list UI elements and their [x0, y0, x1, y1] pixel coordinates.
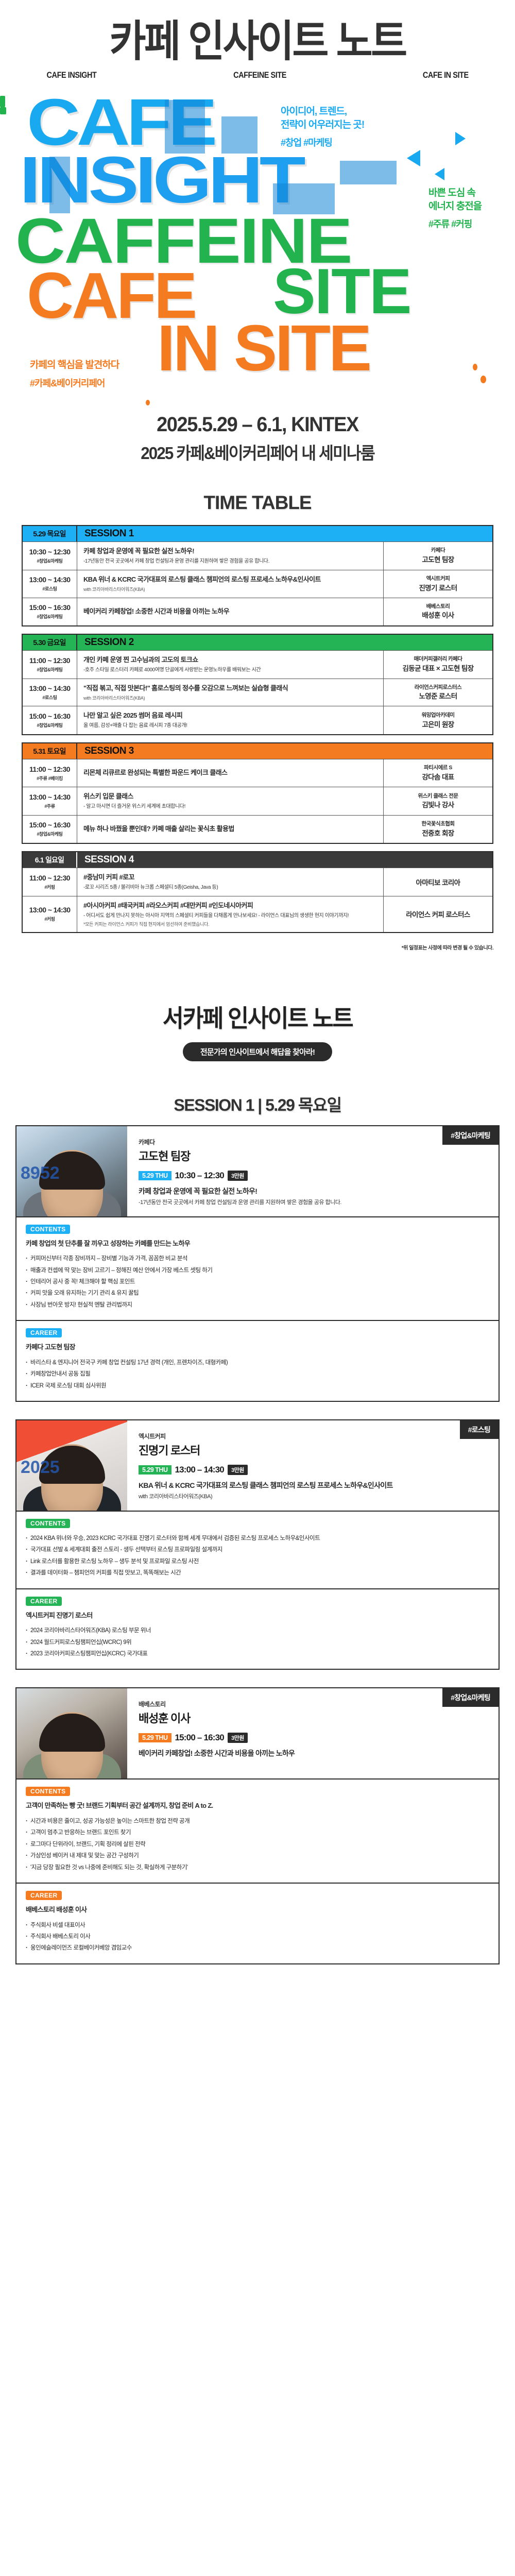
list-item: 주식회사 비셀 대표이사 — [26, 1920, 489, 1931]
timetable-session-header: 5.29 목요일SESSION 1 — [23, 526, 492, 541]
timetable-speaker-cell: 라이언스 커피 로스터스 — [383, 896, 492, 932]
hero-deco-block — [340, 161, 397, 184]
timetable-row: 15:00 ~ 16:30#창업&마케팅베이커리 카페창업! 소중한 시간과 비… — [23, 598, 492, 625]
timetable-session-block: 5.29 목요일SESSION 110:30 ~ 12:30#창업&마케팅카페 … — [22, 525, 493, 626]
timetable-time-cell: 13:00 ~ 14:30#로스팅 — [23, 570, 77, 598]
timetable-row: 13:00 ~ 14:30#로스팅KBA 위너 & KCRC 국가대표의 로스팅… — [23, 570, 492, 598]
timetable-session-block: 5.30 금요일SESSION 211:00 ~ 12:30#창업&마케팅개인 … — [22, 634, 493, 736]
speaker-info: #로스팅엑시트커피진명기 로스터5.29 THU13:00 – 14:303만원… — [127, 1420, 499, 1511]
timetable-desc-cell: 위스키 입문 클래스- 알고 마시면 더 즐거운 위스키 세계에 초대합니다! — [77, 787, 383, 815]
hero-note-orange: 카페의 핵심을 발견하다 #카페&베이커리페어 — [30, 359, 119, 389]
timetable-desc-main: 카페 창업과 운영에 꼭 필요한 실전 노하우! — [83, 547, 377, 556]
timetable-tag: #주류 — [44, 803, 55, 809]
list-item: 2024 월드커피로스팅챔피언십(WCRC) 9위 — [26, 1637, 489, 1648]
list-item: Link 로스터를 활용한 로스팅 노하우 – 생두 분석 및 프로파일 로스팅… — [26, 1556, 489, 1567]
timetable-speaker-org: 워밍업아카데미 — [421, 711, 454, 719]
hero-note-green-tags: #주류 #커핑 — [428, 217, 482, 230]
speaker-photo — [16, 1688, 127, 1778]
timetable-time-cell: 15:00 ~ 16:30#창업&마케팅 — [23, 706, 77, 734]
timetable-heading: TIME TABLE — [0, 492, 515, 514]
timetable-tag: #창업&마케팅 — [37, 613, 62, 620]
timetable-desc-main: 개인 카페 운영 찐 고수님과의 고도의 토크쇼 — [83, 655, 377, 665]
timetable-time: 13:00 ~ 14:30 — [29, 906, 71, 914]
career-list: 바리스타 & 엔지니어 전국구 카페 창업 컨설팅 17년 경력 (개인, 프렌… — [26, 1357, 489, 1392]
hashtag-badge[interactable]: #로스팅 — [460, 1420, 499, 1439]
timetable-speaker-name: 고도현 팀장 — [422, 555, 454, 565]
timetable-row: 13:00 ~ 14:30#로스팅"직접 볶고, 직접 맛본다!" 홈로스팅의 … — [23, 679, 492, 706]
timetable-time: 13:00 ~ 14:30 — [29, 684, 71, 692]
contents-badge: CONTENTS — [26, 1519, 70, 1528]
day-badge: 5.29 THU — [139, 1465, 171, 1475]
hero-word-site: SITE — [273, 266, 411, 318]
timetable-session-title: SESSION 3 — [77, 743, 492, 759]
timetable-time: 13:00 ~ 14:30 — [29, 793, 71, 801]
timetable-session-title: SESSION 4 — [77, 852, 492, 868]
speaker-org: 카페다 — [139, 1138, 489, 1146]
timetable-desc-cell: 리몬체 리큐르로 완성되는 특별한 파운드 케이크 클래스 — [77, 759, 383, 787]
timetable-time: 15:00 ~ 16:30 — [29, 821, 71, 829]
timetable-desc-cell: 나만 알고 싶은 2025 썸머 음료 레시피올 여름, 감성+매출 다 잡는 … — [77, 706, 383, 734]
timetable-row: 13:00 ~ 14:30#주류위스키 입문 클래스- 알고 마시면 더 즐거운… — [23, 787, 492, 815]
career-section: CAREER카페다 고도현 팀장바리스타 & 엔지니어 전국구 카페 창업 컨설… — [16, 1320, 499, 1401]
timetable-speaker-cell: 워밍업아카데미고은미 원장 — [383, 706, 492, 734]
timetable-session-date: 5.29 목요일 — [23, 526, 77, 541]
career-lead: 엑시트커피 진명기 로스터 — [26, 1611, 489, 1621]
list-item: ICER 국제 로스팅 대회 심사위원 — [26, 1380, 489, 1392]
timetable-row: 15:00 ~ 16:30#창업&마케팅나만 알고 싶은 2025 썸머 음료 … — [23, 706, 492, 734]
list-item: 커피 맛을 오래 유지하는 기기 관리 & 유지 꿀팁 — [26, 1287, 489, 1299]
talk-title: 베이커리 카페창업! 소중한 시간과 비용을 아끼는 노하우 — [139, 1748, 489, 1759]
list-item: 커피머신부터 각종 장비까지 – 장비별 기능과 가격, 꼼꼼한 비교 분석 — [26, 1253, 489, 1264]
list-item: 국가대표 선발 & 세계대회 출전 스토리 - 생두 선택부터 로스팅 프로파일… — [26, 1544, 489, 1555]
list-item: 2024 코리아바리스타어워즈(KBA) 로스팅 부문 위너 — [26, 1625, 489, 1636]
session-time-line: 5.29 THU10:30 – 12:303만원 — [139, 1171, 489, 1181]
timetable-desc-note: *모든 커피는 라이언스 커피가 직접 현지에서 엄선하여 준비했습니다. — [83, 921, 377, 927]
timetable-row: 11:00 ~ 12:30#창업&마케팅개인 카페 운영 찐 고수님과의 고도의… — [23, 650, 492, 679]
timetable-tag: #창업&마케팅 — [37, 557, 62, 564]
contents-list: 2024 KBA 위너와 우승, 2023 KCRC 국가대표 진명기 로스터와… — [26, 1533, 489, 1579]
price-badge: 3만원 — [228, 1733, 248, 1743]
list-item: '지금 당장 필요한 것 vs 나중에 준비해도 되는 것, 확실하게 구분하기… — [26, 1862, 489, 1873]
timetable-speaker-org: 위스키 클래스 전문 — [418, 792, 458, 800]
speaker-card-top: 2025#로스팅엑시트커피진명기 로스터5.29 THU13:00 – 14:3… — [16, 1420, 499, 1511]
timetable-desc-cell: "직접 볶고, 직접 맛본다!" 홈로스팅의 정수를 오감으로 느껴보는 실습형… — [77, 679, 383, 706]
triangle-icon — [455, 132, 466, 145]
timetable-session-date: 5.31 토요일 — [23, 743, 77, 759]
day-badge: 5.29 THU — [139, 1171, 171, 1180]
timetable-desc-note: with 코리아바리스타어워즈(KBA) — [83, 694, 377, 701]
timetable-desc-cell: 베이커리 카페창업! 소중한 시간과 비용을 아끼는 노하우 — [77, 598, 383, 625]
contents-section: CONTENTS고객이 만족하는 빵 굿! 브랜드 기획부터 공간 설계까지, … — [16, 1778, 499, 1883]
timetable-desc-main: #아시아커피 #태국커피 #라오스커피 #대만커피 #인도네시아커피 — [83, 901, 377, 911]
timetable-desc-main: 위스키 입문 클래스 — [83, 792, 377, 802]
hero-note-blue-line1: 아이디어, 트렌드, — [281, 105, 364, 118]
section2-pill: 전문가의 인사이트에서 해답을 찾아라! — [183, 1042, 332, 1061]
photo-overlay-text: 8952 — [21, 1163, 60, 1183]
timetable-footnote: *위 일정표는 사정에 따라 변경 될 수 있습니다. — [0, 940, 515, 951]
career-badge: CAREER — [26, 1328, 62, 1337]
timetable-session-block: 5.31 토요일SESSION 311:00 ~ 12:30#주류 #베이킹리몬… — [22, 742, 493, 844]
timetable-speaker-cell: 파티시에르 S강다솜 대표 — [383, 759, 492, 787]
speaker-card[interactable]: #창업&마케팅배베스토리배성훈 이사5.29 THU15:00 – 16:303… — [15, 1687, 500, 1964]
subtitle-center: CAFFEINE SITE — [233, 70, 286, 80]
hero-note-green-line1: 바쁜 도심 속 — [428, 187, 482, 200]
timetable-time-cell: 15:00 ~ 16:30#창업&마케팅 — [23, 598, 77, 625]
subtitle-right: CAFE IN SITE — [423, 70, 469, 80]
header-subtitles: CAFE INSIGHT CAFFEINE SITE CAFE IN SITE — [10, 63, 505, 80]
hero-note-green-line2: 에너지 충전을 — [428, 200, 482, 213]
timetable-time-cell: 11:00 ~ 12:30#주류 #베이킹 — [23, 759, 77, 787]
speaker-info: #창업&마케팅카페다고도현 팀장5.29 THU10:30 – 12:303만원… — [127, 1126, 499, 1216]
photo-hair-shape — [39, 1714, 105, 1752]
timetable-speaker-name: 배성훈 이사 — [422, 611, 454, 620]
list-item: 바리스타 & 엔지니어 전국구 카페 창업 컨설팅 17년 경력 (개인, 프렌… — [26, 1357, 489, 1368]
timetable-desc-cell: 메뉴 하나 바꿨을 뿐인데? 카페 매출 살리는 꽃식초 활용법 — [77, 816, 383, 843]
list-item: 주식회사 배베스토리 이사 — [26, 1931, 489, 1942]
timetable-time: 11:00 ~ 12:30 — [29, 656, 70, 665]
photo-overlay-text: 2025 — [21, 1458, 60, 1478]
timetable-speaker-cell: 아마티보 코리아 — [383, 868, 492, 896]
timetable-desc-main: KBA 위너 & KCRC 국가대표의 로스팅 클래스 챔피언의 로스팅 프로세… — [83, 575, 377, 585]
timetable-row: 11:00 ~ 12:30#커핑#중남미 커피 #로꼬-로꼬 시리즈 5종 / … — [23, 868, 492, 896]
list-item: 매출과 컨셉에 딱 맞는 장비 고르기 – 정해진 예산 안에서 가장 베스트 … — [26, 1265, 489, 1276]
timetable-time: 11:00 ~ 12:30 — [29, 874, 70, 882]
speaker-card-list: 8952#창업&마케팅카페다고도현 팀장5.29 THU10:30 – 12:3… — [0, 1125, 515, 1964]
career-badge: CAREER — [26, 1597, 62, 1606]
timetable-time: 15:00 ~ 16:30 — [29, 712, 71, 720]
career-list: 2024 코리아바리스타어워즈(KBA) 로스팅 부문 위너2024 월드커피로… — [26, 1625, 489, 1659]
hero-deco-dot — [0, 107, 6, 114]
list-item: 시간과 비용은 줄이고, 성공 가능성은 높이는 스마트한 창업 전략 공개 — [26, 1816, 489, 1827]
timetable-speaker-name: 강다솜 대표 — [422, 773, 454, 782]
timetable-speaker-name: 진명기 로스터 — [419, 584, 457, 593]
timetable-tag: #창업&마케팅 — [37, 831, 62, 837]
hero-note-orange-tags: #카페&베이커리페어 — [30, 376, 119, 389]
event-place: 2025 카페&베이커리페어 내 세미나룸 — [13, 439, 502, 464]
speaker-org: 엑시트커피 — [139, 1432, 489, 1440]
contents-list: 커피머신부터 각종 장비까지 – 장비별 기능과 가격, 꼼꼼한 비교 분석매출… — [26, 1253, 489, 1311]
list-item: 카페창업안내서 공동 집필 — [26, 1368, 489, 1380]
speaker-name: 고도현 팀장 — [139, 1147, 489, 1164]
timetable-desc-main: 베이커리 카페창업! 소중한 시간과 비용을 아끼는 노하우 — [83, 607, 377, 617]
timetable-session-header: 6.1 일요일SESSION 4 — [23, 852, 492, 868]
timetable-desc-sub: 올 여름, 감성+매출 다 잡는 음료 레시피 7종 대공개! — [83, 722, 377, 730]
talk-title: KBA 위너 & KCRC 국가대표의 로스팅 클래스 챔피언의 로스팅 프로세… — [139, 1480, 489, 1491]
timetable-desc-sub: - 알고 마시면 더 즐거운 위스키 세계에 초대합니다! — [83, 803, 377, 810]
timetable-desc-note: with 코리아바리스타어워즈(KBA) — [83, 586, 377, 592]
timetable: 5.29 목요일SESSION 110:30 ~ 12:30#창업&마케팅카페 … — [0, 525, 515, 933]
timetable-session-header: 5.30 금요일SESSION 2 — [23, 635, 492, 650]
timetable-row: 11:00 ~ 12:30#주류 #베이킹리몬체 리큐르로 완성되는 특별한 파… — [23, 759, 492, 787]
timetable-session-title: SESSION 1 — [77, 526, 492, 541]
cafe-insight-poster: 카페 인사이트 노트 CAFE INSIGHT CAFFEINE SITE CA… — [0, 0, 515, 1982]
timetable-session-date: 5.30 금요일 — [23, 635, 77, 650]
hero-note-blue: 아이디어, 트렌드, 전략이 어우러지는 곳! #창업 #마케팅 — [281, 105, 364, 149]
timetable-desc-sub: -17년동안 전국 곳곳에서 카페 창업 컨설팅과 운영 관리를 지원하며 쌓은… — [83, 557, 377, 565]
timetable-time-cell: 11:00 ~ 12:30#창업&마케팅 — [23, 651, 77, 679]
session-time-line: 5.29 THU15:00 – 16:303만원 — [139, 1733, 489, 1743]
timetable-tag: #창업&마케팅 — [37, 666, 62, 673]
speaker-info: #창업&마케팅배베스토리배성훈 이사5.29 THU15:00 – 16:303… — [127, 1688, 499, 1778]
contents-badge: CONTENTS — [26, 1225, 70, 1234]
career-badge: CAREER — [26, 1891, 62, 1900]
timetable-time-cell: 13:00 ~ 14:30#주류 — [23, 787, 77, 815]
list-item: 2024 KBA 위너와 우승, 2023 KCRC 국가대표 진명기 로스터와… — [26, 1533, 489, 1544]
timetable-tag: #주류 #베이킹 — [37, 775, 63, 782]
timetable-time: 10:30 ~ 12:30 — [29, 548, 71, 556]
hero-note-blue-line2: 전략이 어우러지는 곳! — [281, 118, 364, 132]
hero-deco-block — [49, 157, 70, 213]
talk-subtitle: -17년동안 전국 곳곳에서 카페 창업 컨설팅과 운영 관리를 지원하며 쌓은… — [139, 1198, 489, 1208]
speaker-card[interactable]: 8952#창업&마케팅카페다고도현 팀장5.29 THU10:30 – 12:3… — [15, 1125, 500, 1402]
session-time: 10:30 – 12:30 — [175, 1171, 224, 1181]
timetable-desc-sub: -로꼬 시리즈 5종 / 볼리비아 뉴크롭 스페셜티 5종(Geisha, Ja… — [83, 884, 377, 891]
career-list: 주식회사 비셀 대표이사주식회사 배베스토리 이사웅인에슬레이먼즈 로컬베이커베… — [26, 1920, 489, 1954]
event-date-block: 2025.5.29 – 6.1, KINTEX 2025 카페&베이커리페어 내… — [0, 405, 515, 492]
timetable-speaker-org: 라이언스커피로스터스 — [415, 684, 462, 691]
timetable-time-cell: 10:30 ~ 12:30#창업&마케팅 — [23, 542, 77, 570]
price-badge: 3만원 — [228, 1465, 248, 1475]
timetable-row: 10:30 ~ 12:30#창업&마케팅카페 창업과 운영에 꼭 필요한 실전 … — [23, 541, 492, 570]
timetable-speaker-cell: 매더커피갤러리 카페다김동균 대표 × 고도현 팀장 — [383, 651, 492, 679]
timetable-speaker-name: 전중호 회장 — [422, 829, 454, 838]
speaker-org: 배베스토리 — [139, 1700, 489, 1708]
speaker-card[interactable]: 2025#로스팅엑시트커피진명기 로스터5.29 THU13:00 – 14:3… — [15, 1419, 500, 1670]
section2-header: 서카페 인사이트 노트 전문가의 인사이트에서 해답을 찾아라! — [0, 951, 515, 1061]
career-section: CAREER엑시트커피 진명기 로스터2024 코리아바리스타어워즈(KBA) … — [16, 1588, 499, 1669]
timetable-desc-cell: #중남미 커피 #로꼬-로꼬 시리즈 5종 / 볼리비아 뉴크롭 스페셜티 5종… — [77, 868, 383, 896]
timetable-desc-cell: #아시아커피 #태국커피 #라오스커피 #대만커피 #인도네시아커피- 어디서도… — [77, 896, 383, 932]
list-item: 인테리어 공사 중 꼭! 체크해야 할 핵심 포인트 — [26, 1276, 489, 1287]
timetable-time: 15:00 ~ 16:30 — [29, 603, 71, 612]
career-lead: 배베스토리 배성훈 이사 — [26, 1905, 489, 1915]
timetable-session-date: 6.1 일요일 — [23, 852, 77, 868]
talk-title: 카페 창업과 운영에 꼭 필요한 실전 노하우! — [139, 1186, 489, 1197]
timetable-speaker-cell: 위스키 클래스 전문김빛나 강사 — [383, 787, 492, 815]
timetable-time: 13:00 ~ 14:30 — [29, 575, 71, 584]
timetable-speaker-org: 한국꽃식초협회 — [421, 820, 454, 828]
timetable-speaker-name: 고은미 원장 — [422, 720, 454, 730]
page-title: 카페 인사이트 노트 — [30, 20, 485, 63]
timetable-desc-main: 리몬체 리큐르로 완성되는 특별한 파운드 케이크 클래스 — [83, 768, 377, 778]
speaker-card-top: #창업&마케팅배베스토리배성훈 이사5.29 THU15:00 – 16:303… — [16, 1688, 499, 1778]
price-badge: 3만원 — [228, 1171, 248, 1181]
timetable-desc-sub: - 어디서도 쉽게 만나지 못하는 아시아 지역의 스페셜티 커피들을 다채롭게… — [83, 912, 377, 920]
timetable-tag: #커핑 — [44, 884, 55, 890]
timetable-speaker-cell: 한국꽃식초협회전중호 회장 — [383, 816, 492, 843]
day-badge: 5.29 THU — [139, 1733, 171, 1742]
speaker-card-top: 8952#창업&마케팅카페다고도현 팀장5.29 THU10:30 – 12:3… — [16, 1126, 499, 1216]
timetable-row: 13:00 ~ 14:30#커핑#아시아커피 #태국커피 #라오스커피 #대만커… — [23, 896, 492, 932]
speaker-photo: 8952 — [16, 1126, 127, 1216]
timetable-session-title: SESSION 2 — [77, 635, 492, 650]
timetable-tag: #로스팅 — [42, 585, 57, 592]
talk-subtitle: with 코리아바리스타어워즈(KBA) — [139, 1493, 489, 1502]
list-item: 2023 코리아커피로스팅챔피언십(KCRC) 국가대표 — [26, 1648, 489, 1659]
contents-lead: 고객이 만족하는 빵 굿! 브랜드 기획부터 공간 설계까지, 창업 준비 A … — [26, 1801, 489, 1811]
timetable-speaker-name: 김빛나 강사 — [422, 801, 454, 810]
timetable-desc-cell: KBA 위너 & KCRC 국가대표의 로스팅 클래스 챔피언의 로스팅 프로세… — [77, 570, 383, 598]
timetable-speaker-name: 노영준 로스터 — [419, 692, 457, 701]
session-time-line: 5.29 THU13:00 – 14:303만원 — [139, 1465, 489, 1475]
session-time: 15:00 – 16:30 — [175, 1733, 224, 1743]
timetable-speaker-org: 매더커피갤러리 카페다 — [414, 655, 462, 663]
timetable-row: 15:00 ~ 16:30#창업&마케팅메뉴 하나 바꿨을 뿐인데? 카페 매출… — [23, 815, 492, 843]
contents-section: CONTENTS2024 KBA 위너와 우승, 2023 KCRC 국가대표 … — [16, 1511, 499, 1588]
hero-note-blue-tags: #창업 #마케팅 — [281, 135, 364, 149]
timetable-speaker-name: 라이언스 커피 로스터스 — [406, 909, 470, 919]
timetable-speaker-org: 카페다 — [431, 547, 445, 554]
timetable-desc-main: 나만 알고 싶은 2025 썸머 음료 레시피 — [83, 711, 377, 721]
timetable-time-cell: 11:00 ~ 12:30#커핑 — [23, 868, 77, 896]
list-item: 고객이 멈추고 반응하는 브랜드 포인트 찾기 — [26, 1827, 489, 1838]
section2-title: 서카페 인사이트 노트 — [13, 998, 502, 1034]
event-date-venue: 2025.5.29 – 6.1, KINTEX — [13, 413, 502, 436]
triangle-icon — [407, 150, 420, 166]
timetable-desc-cell: 개인 카페 운영 찐 고수님과의 고도의 토크쇼-호주 스타일 로스터리 카페로… — [77, 651, 383, 679]
timetable-tag: #커핑 — [44, 916, 55, 922]
timetable-time-cell: 13:00 ~ 14:30#로스팅 — [23, 679, 77, 706]
contents-badge: CONTENTS — [26, 1787, 70, 1796]
timetable-desc-main: "직접 볶고, 직접 맛본다!" 홈로스팅의 정수를 오감으로 느껴보는 실습형… — [83, 684, 377, 693]
timetable-speaker-name: 김동균 대표 × 고도현 팀장 — [402, 664, 473, 673]
timetable-speaker-org: 파티시에르 S — [424, 764, 452, 772]
triangle-icon — [435, 168, 444, 180]
hero-note-green: 바쁜 도심 속 에너지 충전을 #주류 #커핑 — [428, 187, 482, 230]
list-item: 가상인성 베이커 내 제대 및 맞는 공간 구성하기 — [26, 1850, 489, 1861]
dot-icon — [146, 400, 150, 405]
hero-note-orange-line1: 카페의 핵심을 발견하다 — [30, 359, 119, 372]
timetable-desc-main: 메뉴 하나 바꿨을 뿐인데? 카페 매출 살리는 꽃식초 활용법 — [83, 824, 377, 834]
contents-list: 시간과 비용은 줄이고, 성공 가능성은 높이는 스마트한 창업 전략 공개고객… — [26, 1816, 489, 1873]
speaker-photo: 2025 — [16, 1420, 127, 1511]
career-section: CAREER배베스토리 배성훈 이사주식회사 비셀 대표이사주식회사 배베스토리… — [16, 1883, 499, 1963]
hashtag-badge[interactable]: #창업&마케팅 — [442, 1126, 499, 1145]
dot-icon — [480, 376, 486, 383]
page-header: 카페 인사이트 노트 CAFE INSIGHT CAFFEINE SITE CA… — [0, 0, 515, 80]
hero-typography: CAFE INSIGHT CAFFEINE SITE CAFE IN SITE … — [0, 96, 515, 405]
timetable-desc-cell: 카페 창업과 운영에 꼭 필요한 실전 노하우!-17년동안 전국 곳곳에서 카… — [77, 542, 383, 570]
speaker-name: 배성훈 이사 — [139, 1709, 489, 1726]
contents-lead: 카페 창업의 첫 단추를 잘 끼우고 성장하는 카페를 만드는 노하우 — [26, 1239, 489, 1249]
subtitle-left: CAFE INSIGHT — [47, 70, 97, 80]
timetable-speaker-cell: 라이언스커피로스터스노영준 로스터 — [383, 679, 492, 706]
list-item: 결과를 데이터화 – 챔피언의 커피를 직접 맛보고, 똑똑해보는 시간 — [26, 1567, 489, 1579]
speaker-name: 진명기 로스터 — [139, 1442, 489, 1458]
timetable-speaker-cell: 카페다고도현 팀장 — [383, 542, 492, 570]
timetable-session-block: 6.1 일요일SESSION 411:00 ~ 12:30#커핑#중남미 커피 … — [22, 851, 493, 933]
hashtag-badge[interactable]: #창업&마케팅 — [442, 1688, 499, 1707]
timetable-time: 11:00 ~ 12:30 — [29, 765, 70, 773]
session-detail-heading: SESSION 1 | 5.29 목요일 — [0, 1061, 515, 1125]
timetable-speaker-org: 엑시트커피 — [426, 575, 450, 583]
career-lead: 카페다 고도현 팀장 — [26, 1342, 489, 1352]
timetable-speaker-cell: 배베스토리배성훈 이사 — [383, 598, 492, 625]
timetable-tag: #창업&마케팅 — [37, 722, 62, 728]
session-time: 13:00 – 14:30 — [175, 1465, 224, 1475]
timetable-speaker-cell: 엑시트커피진명기 로스터 — [383, 570, 492, 598]
timetable-session-header: 5.31 토요일SESSION 3 — [23, 743, 492, 759]
hero-deco-dot — [0, 96, 5, 107]
list-item: 웅인에슬레이먼즈 로컬베이커베앙 겸임교수 — [26, 1942, 489, 1954]
timetable-time-cell: 13:00 ~ 14:30#커핑 — [23, 896, 77, 932]
list-item: 사장님 번아웃 방지! 현실적 멘탈 관리법까지 — [26, 1299, 489, 1311]
timetable-desc-sub: -호주 스타일 로스터리 카페로 4000여명 단골에게 사랑받는 운영노하우를… — [83, 666, 377, 674]
dot-icon — [473, 364, 477, 370]
timetable-speaker-org: 배베스토리 — [426, 603, 450, 611]
hero-word-in-site: IN SITE — [157, 321, 370, 375]
timetable-speaker-name: 아마티보 코리아 — [416, 877, 460, 887]
timetable-time-cell: 15:00 ~ 16:30#창업&마케팅 — [23, 816, 77, 843]
timetable-desc-main: #중남미 커피 #로꼬 — [83, 873, 377, 883]
list-item: 로그마다 단위라이, 브랜드, 기획 정리에 살핀 전략 — [26, 1839, 489, 1850]
contents-section: CONTENTS카페 창업의 첫 단추를 잘 끼우고 성장하는 카페를 만드는 … — [16, 1216, 499, 1320]
timetable-tag: #로스팅 — [42, 694, 57, 701]
